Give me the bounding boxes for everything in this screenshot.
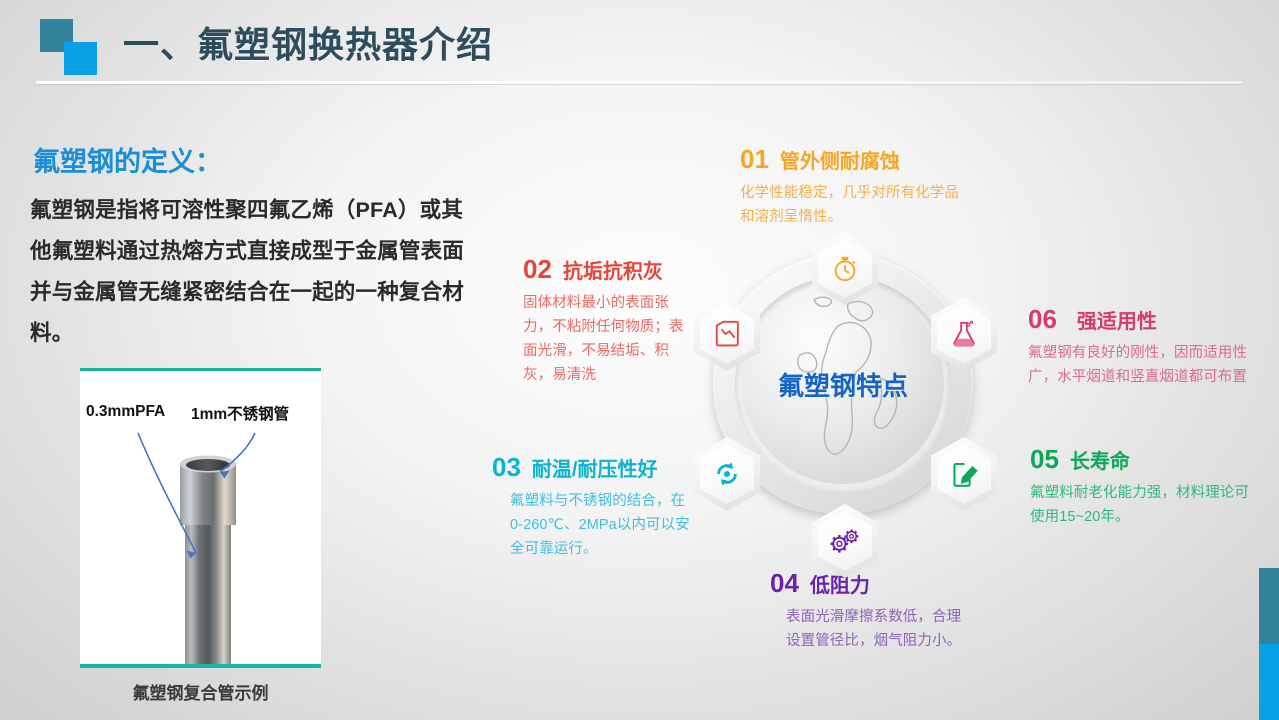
feature-desc-03: 氟塑料与不锈钢的结合，在0-260℃、2MPa以内可以安全可靠运行。 <box>510 489 692 561</box>
gears-icon <box>812 504 878 578</box>
feature-title-05: 长寿命 <box>1070 451 1130 473</box>
feature-desc-02: 固体材料最小的表面张力，不粘附任何物质；表面光滑，不易结垢、积灰，易清洗 <box>523 291 685 387</box>
flask-icon <box>931 297 997 371</box>
feature-number-04: 04 <box>770 568 799 598</box>
feature-title-06: 强适用性 <box>1077 311 1157 333</box>
center-label: 氟塑钢特点 <box>742 366 944 403</box>
feature-item-06: 06强适用性 氟塑钢有良好的刚性，因而适用性广，水平烟道和竖直烟道都可布置 <box>1028 306 1268 389</box>
feature-number-06: 06 <box>1028 304 1057 334</box>
stopwatch-icon <box>812 231 878 305</box>
feature-desc-05: 氟塑料耐老化能力强，材料理论可使用15~20年。 <box>1030 481 1260 529</box>
feature-head-01: 01管外侧耐腐蚀 <box>740 146 970 172</box>
hex-node-chart-document[interactable] <box>694 297 760 371</box>
edge-decoration-bottom <box>1259 644 1279 720</box>
feature-title-03: 耐温/耐压性好 <box>532 459 658 481</box>
chart-document-icon <box>694 297 760 371</box>
feature-head-05: 05长寿命 <box>1030 446 1260 472</box>
feature-desc-04: 表面光滑摩擦系数低，合理设置管径比，烟气阻力小。 <box>786 605 970 653</box>
feature-item-05: 05长寿命 氟塑料耐老化能力强，材料理论可使用15~20年。 <box>1030 446 1260 529</box>
infographic: 氟塑钢特点 <box>0 0 1279 720</box>
hex-node-document-edit[interactable] <box>931 437 997 511</box>
feature-number-03: 03 <box>492 452 521 482</box>
hex-node-gears[interactable] <box>812 504 878 578</box>
feature-item-02: 02抗垢抗积灰 固体材料最小的表面张力，不粘附任何物质；表面光滑，不易结垢、积灰… <box>523 256 685 387</box>
slide-canvas: 一、氟塑钢换热器介绍 氟塑钢的定义： 氟塑钢是指将可溶性聚四氟乙烯（PFA）或其… <box>0 0 1279 720</box>
feature-number-05: 05 <box>1030 444 1059 474</box>
hex-node-flask[interactable] <box>931 297 997 371</box>
feature-item-04: 04低阻力 表面光滑摩擦系数低，合理设置管径比，烟气阻力小。 <box>770 570 970 653</box>
feature-desc-01: 化学性能稳定，几乎对所有化学品和溶剂呈惰性。 <box>740 181 970 229</box>
feature-head-02: 02抗垢抗积灰 <box>523 256 685 282</box>
feature-title-01: 管外侧耐腐蚀 <box>780 151 900 173</box>
globe-graphic: 氟塑钢特点 <box>742 282 944 484</box>
feature-head-06: 06强适用性 <box>1028 306 1268 332</box>
recycle-arrows-icon <box>694 437 760 511</box>
feature-item-03: 03耐温/耐压性好 氟塑料与不锈钢的结合，在0-260℃、2MPa以内可以安全可… <box>492 454 692 561</box>
hex-node-stopwatch[interactable] <box>812 231 878 305</box>
feature-title-04: 低阻力 <box>810 575 870 597</box>
document-edit-icon <box>931 437 997 511</box>
edge-decoration-top <box>1259 568 1279 644</box>
feature-item-01: 01管外侧耐腐蚀 化学性能稳定，几乎对所有化学品和溶剂呈惰性。 <box>740 146 970 229</box>
hex-node-recycle[interactable] <box>694 437 760 511</box>
feature-desc-06: 氟塑钢有良好的刚性，因而适用性广，水平烟道和竖直烟道都可布置 <box>1028 341 1268 389</box>
feature-head-03: 03耐温/耐压性好 <box>492 454 692 480</box>
feature-title-02: 抗垢抗积灰 <box>563 261 663 283</box>
feature-number-02: 02 <box>523 254 552 284</box>
feature-number-01: 01 <box>740 144 769 174</box>
